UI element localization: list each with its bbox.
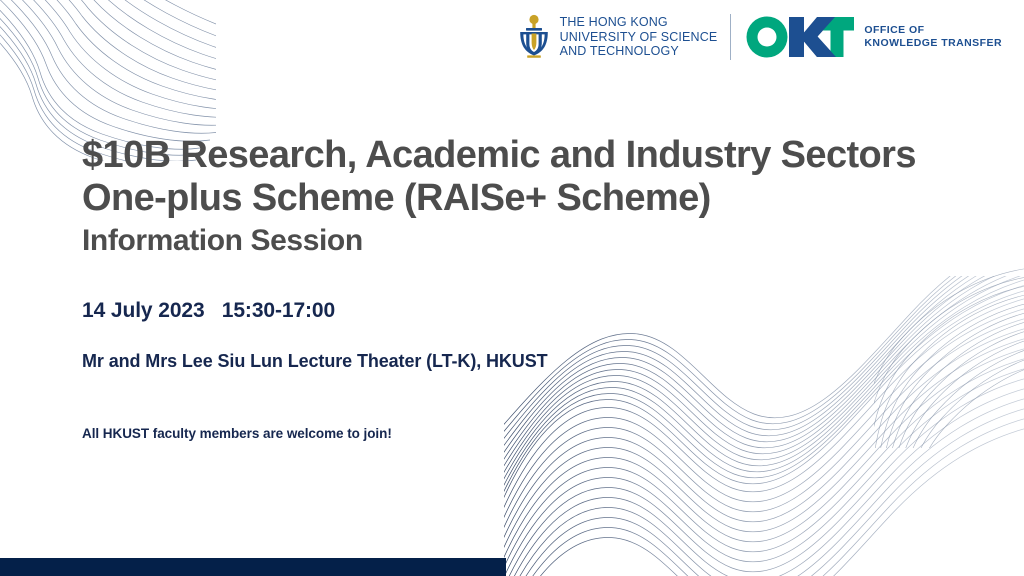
- hkust-logo: THE HONG KONG UNIVERSITY OF SCIENCE AND …: [517, 14, 718, 60]
- event-datetime: 14 July 2023 15:30-17:00: [82, 298, 982, 324]
- hkust-emblem-icon: [517, 14, 551, 60]
- okt-logomark-icon: [744, 15, 854, 59]
- poster-canvas: THE HONG KONG UNIVERSITY OF SCIENCE AND …: [0, 0, 1024, 576]
- logo-bar: THE HONG KONG UNIVERSITY OF SCIENCE AND …: [517, 14, 1002, 60]
- bottom-accent-bar: [0, 558, 506, 576]
- event-audience-note: All HKUST faculty members are welcome to…: [82, 425, 982, 443]
- okt-wordmark: OFFICE OF KNOWLEDGE TRANSFER: [864, 24, 1002, 49]
- event-content: $10B Research, Academic and Industry Sec…: [82, 134, 982, 443]
- event-title: $10B Research, Academic and Industry Sec…: [82, 134, 982, 220]
- event-subtitle: Information Session: [82, 222, 982, 260]
- logo-divider: [730, 14, 731, 60]
- event-venue: Mr and Mrs Lee Siu Lun Lecture Theater (…: [82, 349, 982, 373]
- hkust-wordmark: THE HONG KONG UNIVERSITY OF SCIENCE AND …: [560, 15, 718, 58]
- okt-logo: OFFICE OF KNOWLEDGE TRANSFER: [744, 15, 1002, 59]
